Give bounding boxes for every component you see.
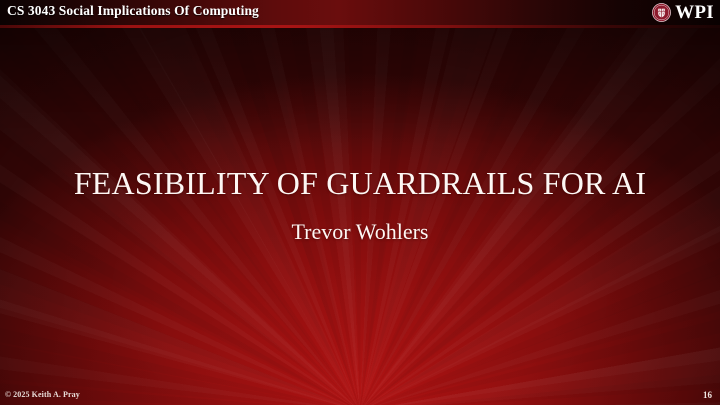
- slide-background: [0, 0, 720, 405]
- course-title: CS 3043 Social Implications Of Computing: [7, 3, 259, 19]
- slide-title: FEASIBILITY OF GUARDRAILS FOR AI: [0, 164, 720, 202]
- slide-header-bar: CS 3043 Social Implications Of Computing…: [0, 0, 720, 25]
- presentation-slide: CS 3043 Social Implications Of Computing…: [0, 0, 720, 405]
- wpi-logo: WPI: [652, 1, 714, 24]
- footer-copyright: © 2025 Keith A. Pray: [5, 390, 80, 400]
- wpi-seal-icon: [652, 3, 671, 22]
- slide-presenter-name: Trevor Wohlers: [0, 219, 720, 245]
- footer-page-number: 16: [703, 390, 712, 400]
- wpi-wordmark: WPI: [675, 3, 714, 22]
